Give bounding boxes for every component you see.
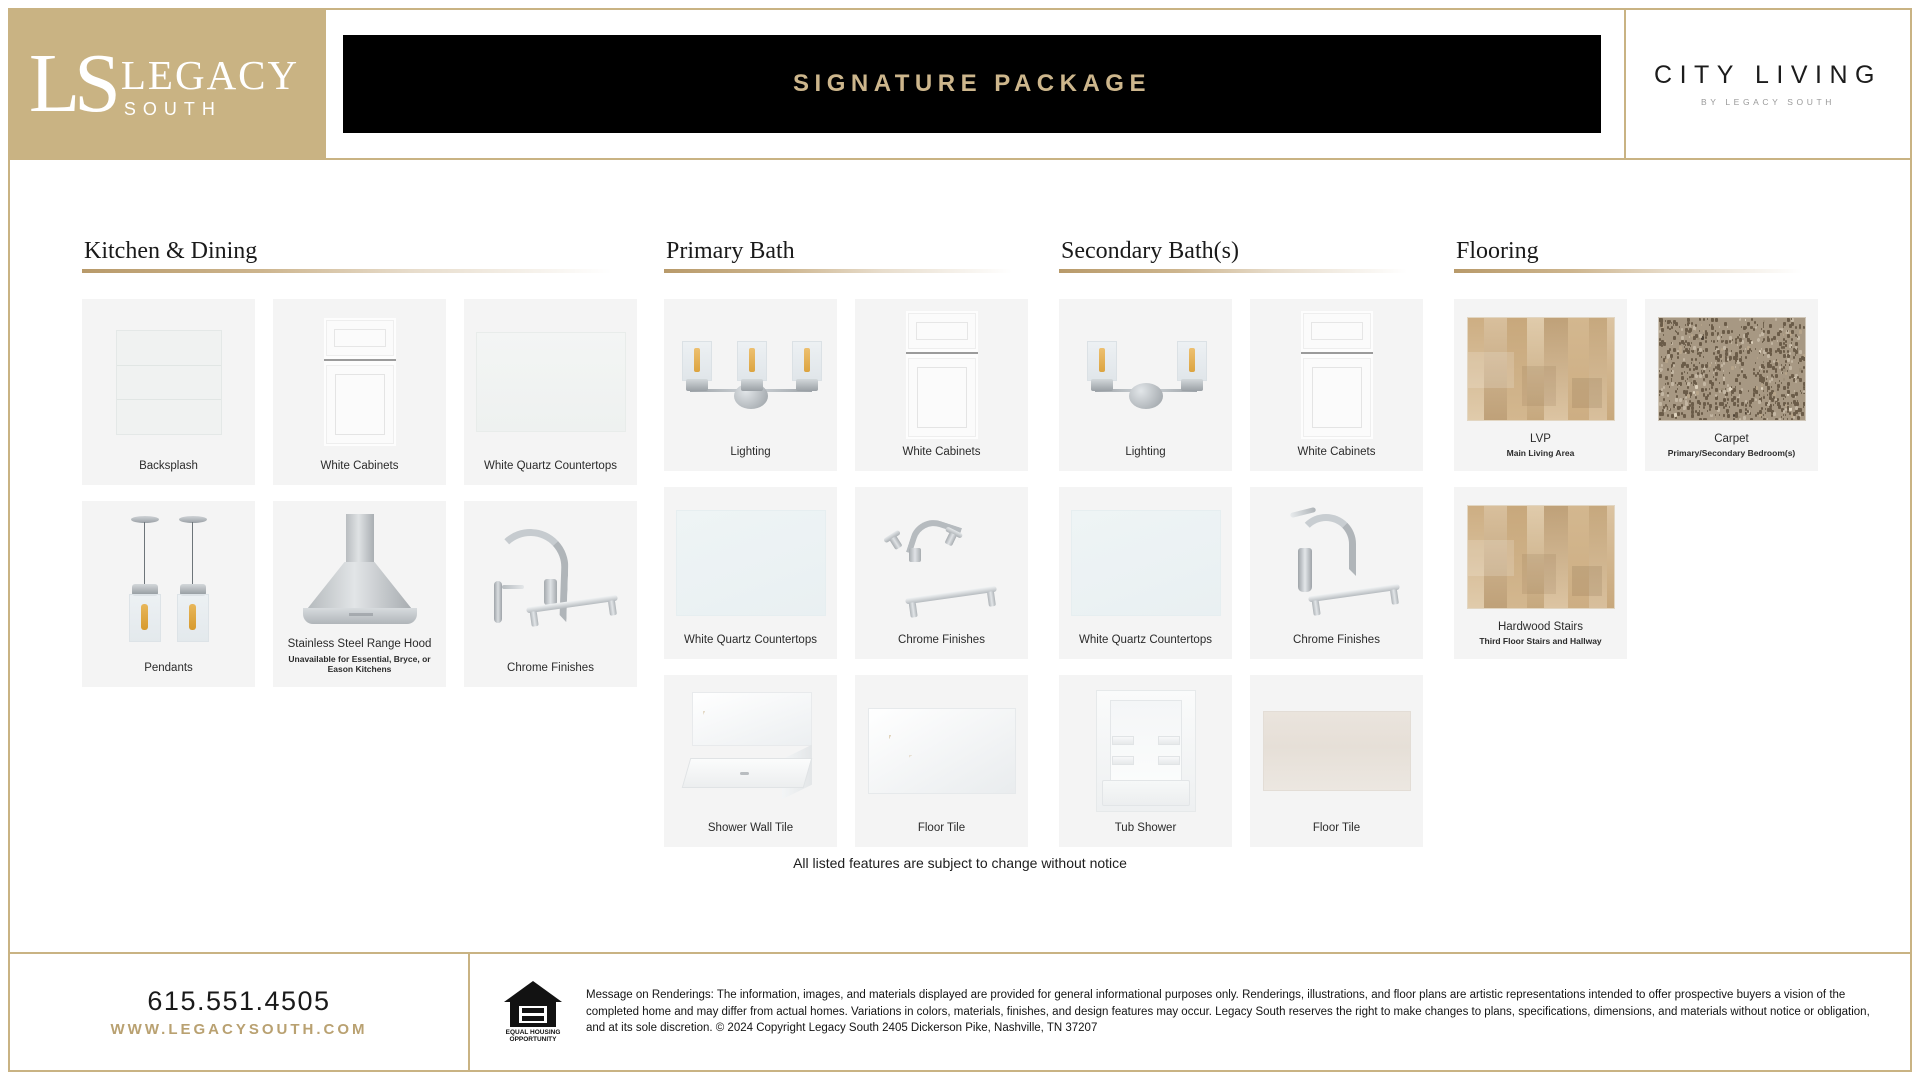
product-caption: Tub Shower bbox=[1115, 818, 1177, 835]
section-underline bbox=[1059, 269, 1407, 273]
tile-row: Shower Wall TileFloor Tile bbox=[664, 675, 1059, 847]
product-image bbox=[1462, 497, 1619, 617]
product-image bbox=[863, 685, 1020, 818]
product-caption: White Quartz Countertops bbox=[684, 630, 817, 647]
product-image bbox=[1258, 685, 1415, 818]
features-disclaimer: All listed features are subject to chang… bbox=[10, 855, 1910, 871]
product-tile[interactable]: White Cabinets bbox=[273, 299, 446, 485]
section-kitchen-dining: Kitchen & DiningBacksplashWhite Cabinets… bbox=[82, 238, 664, 863]
page-footer: 615.551.4505 WWW.LEGACYSOUTH.COM EQUAL H… bbox=[10, 952, 1910, 1070]
product-image bbox=[1258, 309, 1415, 442]
tile-row: White Quartz CountertopsChrome Finishes bbox=[1059, 487, 1454, 659]
section-primary-bath: Primary BathLightingWhite CabinetsWhite … bbox=[664, 238, 1059, 863]
phone-number[interactable]: 615.551.4505 bbox=[147, 986, 330, 1017]
product-tile[interactable]: White Quartz Countertops bbox=[664, 487, 837, 659]
product-tile[interactable]: Stainless Steel Range HoodUnavailable fo… bbox=[273, 501, 446, 687]
carpet-swatch bbox=[1658, 317, 1806, 421]
product-image bbox=[281, 309, 438, 456]
section-flooring: FlooringLVPMain Living AreaCarpetPrimary… bbox=[1454, 238, 1834, 863]
product-caption: Chrome Finishes bbox=[1293, 630, 1380, 647]
section-underline bbox=[82, 269, 612, 273]
legal-block: EQUAL HOUSING OPPORTUNITY Message on Ren… bbox=[470, 954, 1910, 1070]
product-tile[interactable]: Hardwood StairsThird Floor Stairs and Ha… bbox=[1454, 487, 1627, 659]
product-image bbox=[863, 309, 1020, 442]
product-image bbox=[672, 309, 829, 442]
product-caption: Shower Wall Tile bbox=[708, 818, 793, 835]
section-heading: Kitchen & Dining bbox=[84, 238, 664, 265]
product-image bbox=[281, 511, 438, 634]
product-tile[interactable]: Pendants bbox=[82, 501, 255, 687]
product-caption: Backsplash bbox=[139, 456, 198, 473]
tile-row: BacksplashWhite CabinetsWhite Quartz Cou… bbox=[82, 299, 664, 485]
product-image bbox=[672, 497, 829, 630]
legal-disclaimer: Message on Renderings: The information, … bbox=[586, 987, 1886, 1037]
section-underline bbox=[1454, 269, 1802, 273]
beige-floor-tile-swatch bbox=[1263, 711, 1411, 791]
product-tile[interactable]: Floor Tile bbox=[1250, 675, 1423, 847]
product-image bbox=[90, 511, 247, 658]
product-image bbox=[863, 497, 1020, 630]
product-caption: White Cabinets bbox=[321, 456, 399, 473]
city-living-logo: CITY LIVING BY LEGACY SOUTH bbox=[1624, 10, 1910, 158]
chrome-bath-faucet-image bbox=[867, 504, 1017, 622]
marble-floor-tile-swatch bbox=[868, 708, 1016, 794]
product-caption: Floor Tile bbox=[918, 818, 965, 835]
section-heading: Flooring bbox=[1456, 238, 1834, 265]
product-tile[interactable]: White Quartz Countertops bbox=[1059, 487, 1232, 659]
shower-wall-tile-image bbox=[676, 690, 826, 812]
product-tile[interactable]: White Cabinets bbox=[855, 299, 1028, 471]
brand-name: LEGACY bbox=[121, 55, 299, 96]
cabinet-door-image bbox=[1301, 311, 1373, 439]
product-tile[interactable]: Tub Shower bbox=[1059, 675, 1232, 847]
product-image bbox=[1067, 685, 1224, 818]
product-tile[interactable]: LVPMain Living Area bbox=[1454, 299, 1627, 471]
product-caption: Lighting bbox=[1125, 442, 1165, 459]
product-tile[interactable]: Chrome Finishes bbox=[464, 501, 637, 687]
product-caption: Chrome Finishes bbox=[898, 630, 985, 647]
section-heading: Secondary Bath(s) bbox=[1061, 238, 1454, 265]
product-image bbox=[1067, 497, 1224, 630]
product-image bbox=[90, 309, 247, 456]
product-subcaption: Primary/Secondary Bedroom(s) bbox=[1668, 448, 1796, 459]
tile-row: Tub ShowerFloor Tile bbox=[1059, 675, 1454, 847]
product-tile[interactable]: Chrome Finishes bbox=[855, 487, 1028, 659]
eho-label: EQUAL HOUSING OPPORTUNITY bbox=[506, 1029, 561, 1044]
product-tile[interactable]: Chrome Finishes bbox=[1250, 487, 1423, 659]
product-tile[interactable]: White Cabinets bbox=[1250, 299, 1423, 471]
section-secondary-bath-s: Secondary Bath(s)LightingWhite CabinetsW… bbox=[1059, 238, 1454, 863]
eho-line-2: OPPORTUNITY bbox=[510, 1036, 557, 1043]
vanity-light-image bbox=[1081, 327, 1211, 423]
section-heading: Primary Bath bbox=[666, 238, 1059, 265]
backsplash-swatch bbox=[116, 330, 222, 435]
tile-row: LightingWhite Cabinets bbox=[1059, 299, 1454, 471]
equal-housing-opportunity-logo: EQUAL HOUSING OPPORTUNITY bbox=[500, 981, 566, 1044]
page-frame: LS LEGACY SOUTH SIGNATURE PACKAGE CITY L… bbox=[8, 8, 1912, 1072]
product-image bbox=[472, 309, 629, 456]
section-underline bbox=[664, 269, 1012, 273]
product-tile[interactable]: Backsplash bbox=[82, 299, 255, 485]
page-title: SIGNATURE PACKAGE bbox=[793, 70, 1151, 98]
range-hood-image bbox=[295, 514, 425, 632]
product-caption: Lighting bbox=[730, 442, 770, 459]
product-caption: Hardwood Stairs bbox=[1498, 617, 1583, 634]
city-living-subtitle: BY LEGACY SOUTH bbox=[1701, 97, 1835, 107]
pendant-lights-image bbox=[109, 514, 229, 654]
product-caption: Chrome Finishes bbox=[507, 658, 594, 675]
wood-floor-swatch bbox=[1467, 317, 1615, 421]
house-icon bbox=[504, 981, 562, 1027]
cabinet-door-image bbox=[324, 318, 396, 446]
product-image bbox=[472, 511, 629, 658]
tile-row: LVPMain Living AreaCarpetPrimary/Seconda… bbox=[1454, 299, 1834, 471]
product-caption: Pendants bbox=[144, 658, 193, 675]
product-image bbox=[1067, 309, 1224, 442]
brand-sub: SOUTH bbox=[124, 100, 222, 118]
tub-shower-image bbox=[1096, 690, 1196, 812]
product-image bbox=[1258, 497, 1415, 630]
wood-floor-swatch bbox=[1467, 505, 1615, 609]
tile-row: Hardwood StairsThird Floor Stairs and Ha… bbox=[1454, 487, 1834, 659]
product-caption: Floor Tile bbox=[1313, 818, 1360, 835]
cabinet-door-image bbox=[906, 311, 978, 439]
product-caption: White Cabinets bbox=[1298, 442, 1376, 459]
quartz-countertop-swatch bbox=[476, 332, 626, 432]
page-header: LS LEGACY SOUTH SIGNATURE PACKAGE CITY L… bbox=[10, 10, 1910, 158]
legacy-south-logo: LS LEGACY SOUTH bbox=[10, 10, 326, 158]
tile-row: PendantsStainless Steel Range HoodUnavai… bbox=[82, 501, 664, 687]
product-subcaption: Unavailable for Essential, Bryce, or Eas… bbox=[281, 654, 438, 675]
city-living-title: CITY LIVING bbox=[1654, 61, 1882, 90]
product-caption: LVP bbox=[1530, 429, 1551, 446]
package-title-bar: SIGNATURE PACKAGE bbox=[340, 32, 1604, 136]
product-caption: Carpet bbox=[1714, 429, 1749, 446]
product-caption: Stainless Steel Range Hood bbox=[288, 634, 432, 651]
product-caption: White Quartz Countertops bbox=[1079, 630, 1212, 647]
chrome-kitchen-faucet-image bbox=[476, 525, 626, 643]
product-image bbox=[672, 685, 829, 818]
product-image bbox=[1462, 309, 1619, 429]
vanity-light-image bbox=[676, 327, 826, 423]
product-tile[interactable]: Lighting bbox=[664, 299, 837, 471]
brochure-page: LS LEGACY SOUTH SIGNATURE PACKAGE CITY L… bbox=[0, 0, 1920, 1080]
ls-monogram-icon: LS bbox=[29, 50, 115, 119]
product-tile[interactable]: White Quartz Countertops bbox=[464, 299, 637, 485]
tile-row: White Quartz CountertopsChrome Finishes bbox=[664, 487, 1059, 659]
quartz-countertop-swatch bbox=[1071, 510, 1221, 616]
product-tile[interactable]: CarpetPrimary/Secondary Bedroom(s) bbox=[1645, 299, 1818, 471]
product-caption: White Cabinets bbox=[903, 442, 981, 459]
product-tile[interactable]: Lighting bbox=[1059, 299, 1232, 471]
quartz-countertop-swatch bbox=[676, 510, 826, 616]
chrome-single-handle-faucet-image bbox=[1262, 504, 1412, 622]
sections-grid: Kitchen & DiningBacksplashWhite Cabinets… bbox=[82, 238, 1870, 863]
product-subcaption: Main Living Area bbox=[1507, 448, 1575, 459]
contact-block: 615.551.4505 WWW.LEGACYSOUTH.COM bbox=[10, 954, 470, 1070]
tile-row: LightingWhite Cabinets bbox=[664, 299, 1059, 471]
product-caption: White Quartz Countertops bbox=[484, 456, 617, 473]
product-tile[interactable]: Floor Tile bbox=[855, 675, 1028, 847]
product-subcaption: Third Floor Stairs and Hallway bbox=[1479, 636, 1601, 647]
website-url[interactable]: WWW.LEGACYSOUTH.COM bbox=[111, 1021, 368, 1038]
page-content: Kitchen & DiningBacksplashWhite Cabinets… bbox=[10, 160, 1910, 1070]
eho-line-1: EQUAL HOUSING bbox=[506, 1029, 561, 1036]
product-tile[interactable]: Shower Wall Tile bbox=[664, 675, 837, 847]
product-image bbox=[1653, 309, 1810, 429]
